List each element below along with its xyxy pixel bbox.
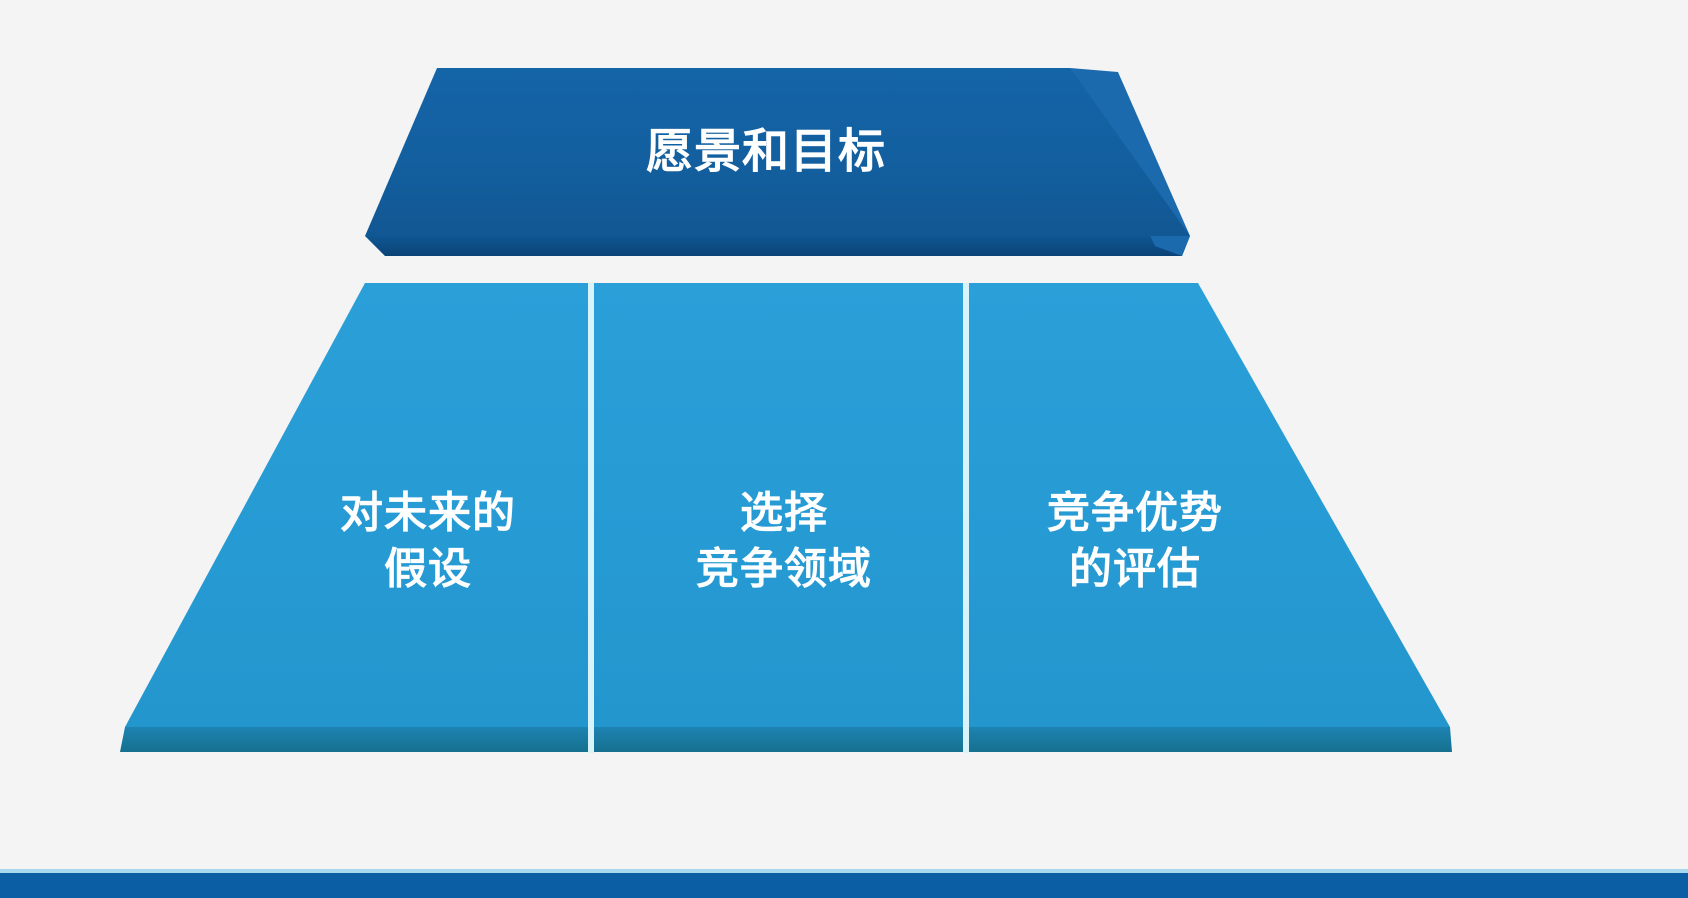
segment-arena-line2: 竞争领域	[696, 545, 872, 593]
vision-goals-label: 愿景和目标	[646, 124, 886, 177]
strategy-pyramid-diagram: 愿景和目标 对未来的 假设 选择 竞争领域 竞争优势 的评估	[0, 0, 1688, 898]
base-block-bottom-edge	[120, 727, 1452, 752]
segment-assumptions-line2: 假设	[384, 545, 472, 593]
segment-assumptions-line1: 对未来的	[340, 489, 516, 537]
segment-advantage-line1: 竞争优势	[1047, 489, 1223, 537]
vision-block-bottom-edge	[365, 236, 1190, 256]
segment-divider-2	[963, 283, 969, 753]
footer-bar	[0, 873, 1688, 898]
segment-arena-line1: 选择	[740, 489, 828, 537]
slide-footer	[0, 869, 1688, 898]
segment-divider-1	[588, 283, 594, 753]
segment-advantage-line2: 的评估	[1069, 545, 1201, 593]
segment-arena[interactable]: 选择 竞争领域	[594, 283, 963, 727]
footer-accent-line	[0, 869, 1688, 873]
vision-goals-block[interactable]: 愿景和目标	[365, 68, 1190, 256]
